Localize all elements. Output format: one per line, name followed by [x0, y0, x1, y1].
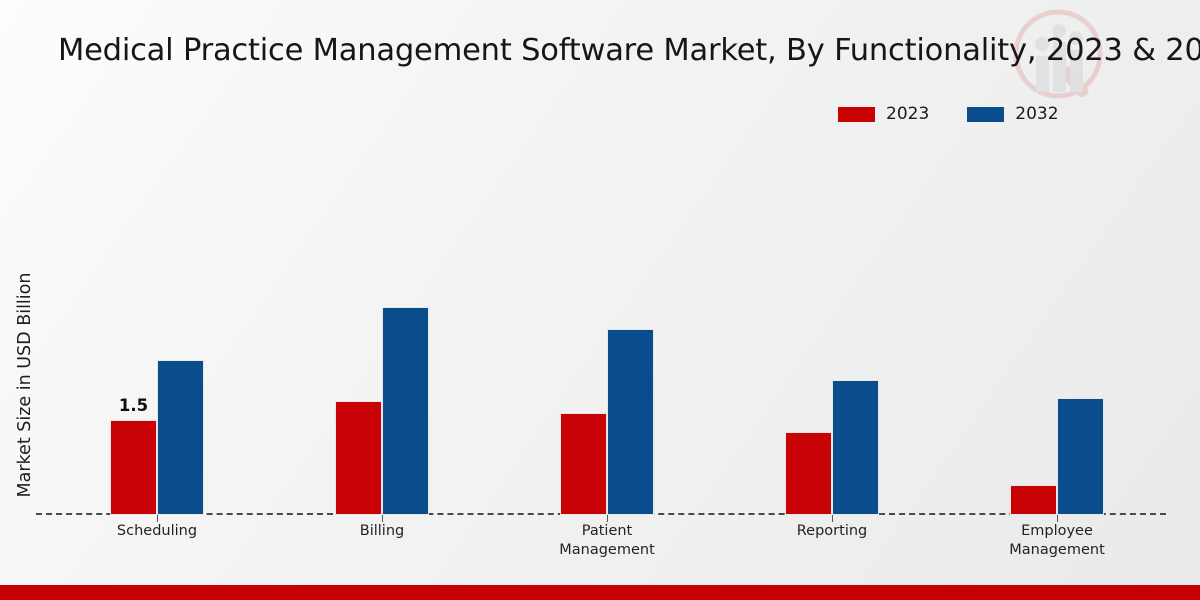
bar-pair [110, 140, 204, 515]
bar-2032-reporting[interactable] [832, 380, 879, 515]
bar-2023-billing[interactable] [335, 401, 382, 515]
bar-pair [560, 140, 654, 515]
bar-2023-reporting[interactable] [785, 432, 832, 515]
x-axis-label-reporting: Reporting [722, 522, 942, 541]
x-axis-tick [157, 515, 158, 522]
legend-label-2023: 2023 [886, 106, 929, 123]
legend-swatch-2032 [967, 107, 1004, 122]
bar-2023-employee-management[interactable] [1010, 485, 1057, 515]
bar-group: PatientManagement [560, 140, 654, 515]
bar-pair [1010, 140, 1104, 515]
x-axis-label-billing: Billing [272, 522, 492, 541]
page-title: Medical Practice Management Software Mar… [58, 31, 1200, 71]
legend-item-2032[interactable]: 2032 [967, 106, 1058, 123]
legend-item-2023[interactable]: 2023 [838, 106, 929, 123]
x-axis-tick [832, 515, 833, 522]
x-axis-tick [382, 515, 383, 522]
chart-legend: 2023 2032 [838, 103, 1059, 125]
bar-group: EmployeeManagement [1010, 140, 1104, 515]
bar-2032-employee-management[interactable] [1057, 398, 1104, 515]
bar-2023-scheduling[interactable] [110, 420, 157, 515]
bar-group: 1.5Scheduling [110, 140, 204, 515]
legend-swatch-2023 [838, 107, 875, 122]
x-axis-tick [1057, 515, 1058, 522]
bar-2032-patient-management[interactable] [607, 329, 654, 515]
x-axis-label-patient-management: PatientManagement [497, 522, 717, 560]
x-axis-label-employee-management: EmployeeManagement [947, 522, 1167, 560]
x-axis-tick [607, 515, 608, 522]
bar-pair [785, 140, 879, 515]
bar-group: Reporting [785, 140, 879, 515]
bar-2032-scheduling[interactable] [157, 360, 204, 515]
chart-figure: Medical Practice Management Software Mar… [0, 0, 1200, 600]
bar-pair [335, 140, 429, 515]
y-axis-title: Market Size in USD Billion [15, 215, 35, 555]
bar-2023-patient-management[interactable] [560, 413, 607, 515]
legend-label-2032: 2032 [1015, 106, 1058, 123]
plot-area: 1.5SchedulingBillingPatientManagementRep… [36, 140, 1166, 515]
x-axis-label-scheduling: Scheduling [47, 522, 267, 541]
footer-strip [0, 585, 1200, 600]
bar-group: Billing [335, 140, 429, 515]
bar-2032-billing[interactable] [382, 307, 429, 515]
